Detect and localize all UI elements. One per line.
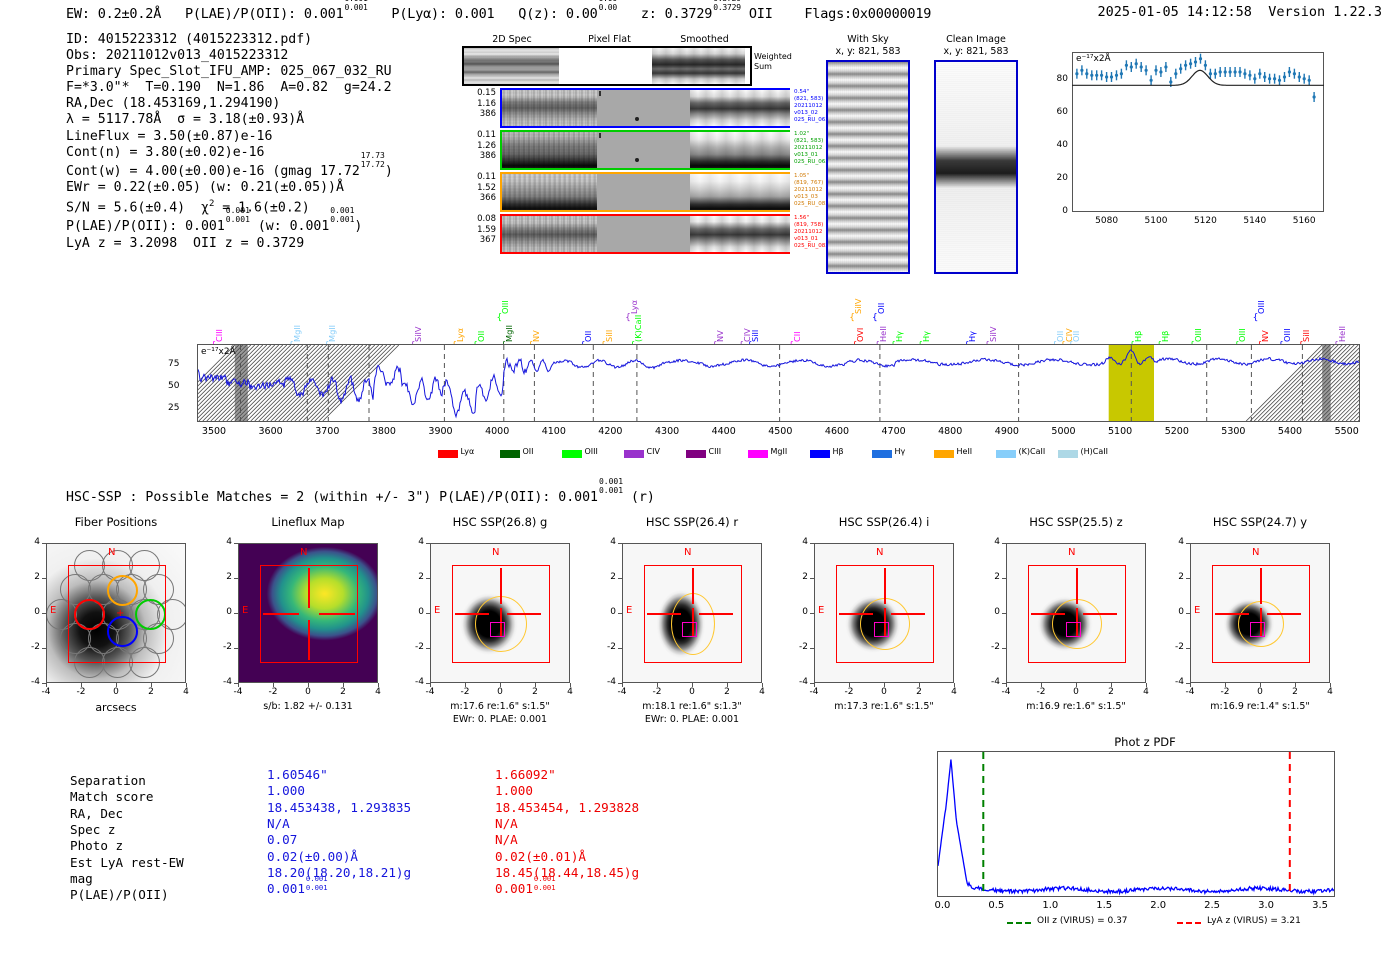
info-chi-symbol: χ bbox=[201, 200, 209, 215]
line-id-(K)CaII-12: (K)CaII bbox=[633, 315, 643, 342]
hsc-panel-image-4[interactable] bbox=[814, 543, 954, 683]
match-label-1: Match score bbox=[70, 789, 153, 805]
hsc-heading-pre: HSC-SSP : Possible Matches = 2 (within +… bbox=[66, 490, 598, 505]
header-qz-lo: 0.00 bbox=[599, 4, 617, 12]
phot-z-pdf-title: Phot z PDF bbox=[935, 735, 1355, 749]
info-cont-w-lo: 17.72 bbox=[361, 161, 385, 169]
legend-label-(H)CaII: (H)CaII bbox=[1081, 447, 1108, 456]
legend-swatch-CIII bbox=[686, 450, 706, 458]
fiber-row-2-stat-2: 366 bbox=[462, 193, 496, 204]
fiber-row-1-stats: 0.11 1.26 386 bbox=[462, 130, 496, 162]
info-plae-hi: 0.001 bbox=[226, 207, 250, 215]
info-plae: P(LAE)/P(OII): 0.0010.0010.001 (w: 0.001… bbox=[66, 216, 393, 235]
fs-ytick-50: 50 bbox=[168, 381, 179, 391]
header-plae-label: P(LAE)/P(OII): bbox=[185, 6, 296, 22]
pz-legend-line-1 bbox=[1177, 922, 1201, 924]
hsc-panel-row: Fiber Positions-4-2024-4-2024+NEarcsecsL… bbox=[0, 515, 1400, 735]
hsc-2-xtick-2: 0 bbox=[488, 687, 512, 697]
cutout-with-sky-title: With Sky bbox=[822, 34, 914, 46]
match-col1-6: 18.20(18.20,18.21)g bbox=[267, 865, 411, 881]
phot-z-pdf-frame bbox=[937, 751, 1335, 897]
fiber-row-1 bbox=[500, 130, 790, 170]
hsc-2-ytick-2: 0 bbox=[404, 607, 424, 617]
hsc-6-compass-n: N bbox=[1252, 547, 1259, 558]
pz-legend-label-1: LyA z (VIRUS) = 3.21 bbox=[1207, 916, 1301, 926]
fiber-row-3-stat-0: 0.08 bbox=[462, 214, 496, 225]
hsc-5-compass-n: N bbox=[1068, 547, 1075, 558]
hsc-2-compass-n: N bbox=[492, 547, 499, 558]
hsc-6-ytick-3: 2 bbox=[1164, 572, 1184, 582]
hsc-6-xtickmark-4 bbox=[1330, 683, 1331, 687]
header-z-lo: 0.3729 bbox=[713, 4, 741, 12]
hsc-1-xtickmark-3 bbox=[343, 683, 344, 687]
hsc-5-xtickmark-2 bbox=[1076, 683, 1077, 687]
hsc-3-xtickmark-3 bbox=[727, 683, 728, 687]
line-id-MgII-2: MgII bbox=[327, 325, 337, 342]
hsc-6-xtickmark-0 bbox=[1190, 683, 1191, 687]
hsc-6-ytick-2: 0 bbox=[1164, 607, 1184, 617]
hsc-3-ytick-1: -2 bbox=[596, 642, 616, 652]
hsc-3-xtick-3: 2 bbox=[715, 687, 739, 697]
legend-swatch-MgII bbox=[748, 450, 768, 458]
fs-ytick-25: 25 bbox=[168, 403, 179, 413]
match-col2-3: N/A bbox=[495, 816, 518, 832]
zoomed-line-plot: e⁻¹⁷x2Å 0 20 40 60 80 508051005120514051… bbox=[1036, 44, 1336, 249]
weighted-sum-flat-blank bbox=[559, 48, 652, 84]
hsc-5-ytick-2: 0 bbox=[980, 607, 1000, 617]
header-qz-value: 0.00 bbox=[566, 6, 598, 22]
hsc-1-ytick-1: -2 bbox=[212, 642, 232, 652]
info-lambda: λ = 5117.78Å σ = 3.18(±0.93)Å bbox=[66, 112, 393, 128]
hsc-6-xtick-2: 0 bbox=[1248, 687, 1272, 697]
match-col2-7: 0.0010.0010.001 bbox=[495, 881, 556, 898]
hsc-1-ytick-4: 4 bbox=[212, 537, 232, 547]
hsc-3-ytick-2: 0 bbox=[596, 607, 616, 617]
hsc-6-xtick-3: 2 bbox=[1283, 687, 1307, 697]
full-spectrum-plot: CIII{MgII{MgII{SiIV{Lyα{OII{OIII{MgII{NV… bbox=[60, 276, 1340, 476]
match-label-2: RA, Dec bbox=[70, 806, 123, 822]
montage-weighted-sum-row bbox=[462, 46, 752, 86]
info-cont-w-hi: 17.73 bbox=[361, 152, 385, 160]
hsc-panel-image-1[interactable] bbox=[238, 543, 378, 683]
hsc-1-xtickmark-2 bbox=[308, 683, 309, 687]
info-plae-w-hi: 0.001 bbox=[330, 207, 354, 215]
hsc-2-xtick-0: -4 bbox=[418, 687, 442, 697]
header-datetime: 2025-01-05 14:12:58 bbox=[1098, 4, 1252, 20]
hsc-6-xtickmark-2 bbox=[1260, 683, 1261, 687]
hsc-heading-lo: 0.001 bbox=[599, 487, 623, 495]
fiber-row-0-stat-0: 0.15 bbox=[462, 88, 496, 99]
fiber-row-3-flat bbox=[597, 216, 690, 252]
match-col1-4: 0.07 bbox=[267, 832, 297, 848]
fiber-row-0 bbox=[500, 88, 790, 128]
hsc-2-xtickmark-0 bbox=[430, 683, 431, 687]
header-ew: EW: 0.2±0.2Å bbox=[66, 6, 161, 22]
weighted-sum-label: Weighted Sum bbox=[754, 52, 792, 72]
header-qz-label: Q(z): bbox=[518, 6, 558, 22]
hsc-2-ytick-1: -2 bbox=[404, 642, 424, 652]
legend-label-OIII: OIII bbox=[585, 447, 598, 456]
hsc-0-ytick-3: 2 bbox=[20, 572, 40, 582]
line-id-OIII-32: OIII bbox=[1256, 300, 1266, 314]
fiber-row-2-stat-0: 0.11 bbox=[462, 172, 496, 183]
info-radec: RA,Dec (18.453169,1.294190) bbox=[66, 96, 393, 112]
hsc-panel-title-3: HSC SSP(26.4) r bbox=[612, 515, 772, 529]
hsc-panel-title-5: HSC SSP(25.5) z bbox=[996, 515, 1156, 529]
fiber-row-2-stat-1: 1.52 bbox=[462, 183, 496, 194]
line-id-MgII-7: MgII bbox=[504, 325, 514, 342]
hsc-5-xtickmark-4 bbox=[1146, 683, 1147, 687]
hsc-0-ytick-2: 0 bbox=[20, 607, 40, 617]
hsc-0-ytick-4: 4 bbox=[20, 537, 40, 547]
cutout-clean-image-data bbox=[934, 60, 1018, 274]
full-spectrum-frame bbox=[197, 344, 1360, 422]
hsc-panel-caption-3: m:18.1 re:1.6" s:1.3" bbox=[602, 701, 782, 712]
match-col2-0: 1.66092" bbox=[495, 767, 556, 783]
hsc-0-compass-n: N bbox=[108, 547, 115, 558]
fiber-row-3-meta: 1.56" (819, 758) 20211012 v013_01 025_RU… bbox=[794, 215, 829, 250]
line-id-HeII-36: HeII bbox=[1337, 326, 1347, 342]
legend-swatch-OIII bbox=[562, 450, 582, 458]
hsc-0-xtick-1: -2 bbox=[69, 687, 93, 697]
hsc-0-xtickmark-1 bbox=[81, 683, 82, 687]
fiber-row-3-smoothed bbox=[690, 216, 790, 252]
hsc-1-ytick-3: 2 bbox=[212, 572, 232, 582]
hsc-2-ytick-4: 4 bbox=[404, 537, 424, 547]
line-id-bracket-32: { bbox=[1253, 313, 1259, 323]
hsc-0-xtick-4: 4 bbox=[174, 687, 198, 697]
legend-label-OII: OII bbox=[523, 447, 534, 456]
hsc-5-ytick-1: -2 bbox=[980, 642, 1000, 652]
info-cont-w-post: ) bbox=[385, 164, 393, 179]
hsc-panel-image-3[interactable] bbox=[622, 543, 762, 683]
match-col1-3: N/A bbox=[267, 816, 290, 832]
hsc-5-ytick-0: -4 bbox=[980, 677, 1000, 687]
hsc-5-ytick-4: 4 bbox=[980, 537, 1000, 547]
hsc-panel-caption-4: m:17.3 re:1.6" s:1.5" bbox=[794, 701, 974, 712]
hsc-3-xtickmark-1 bbox=[657, 683, 658, 687]
fiber-row-0-stats: 0.15 1.16 386 bbox=[462, 88, 496, 120]
hsc-3-xtickmark-4 bbox=[762, 683, 763, 687]
hsc-panel-xlabel-0: arcsecs bbox=[36, 701, 196, 714]
hsc-5-xtick-1: -2 bbox=[1029, 687, 1053, 697]
legend-swatch-(H)CaII bbox=[1058, 450, 1078, 458]
line-id-HeII-20: HeII bbox=[878, 326, 888, 342]
hsc-3-xtickmark-2 bbox=[692, 683, 693, 687]
fiber-row-1-stat-1: 1.26 bbox=[462, 141, 496, 152]
hsc-2-xtickmark-2 bbox=[500, 683, 501, 687]
legend-label-CIV: CIV bbox=[647, 447, 660, 456]
match-col2-4: N/A bbox=[495, 832, 518, 848]
hsc-4-xtickmark-3 bbox=[919, 683, 920, 687]
line-id-OIII-6: OIII bbox=[500, 300, 510, 314]
line-id-OIII-30: OIII bbox=[1193, 328, 1203, 342]
legend-label-(K)CaII: (K)CaII bbox=[1019, 447, 1046, 456]
hsc-6-xtickmark-1 bbox=[1225, 683, 1226, 687]
hsc-panel-title-1: Lineflux Map bbox=[228, 515, 388, 529]
info-plae-w-lo: 0.001 bbox=[330, 216, 354, 224]
cutout-clean-coords: x, y: 821, 583 bbox=[930, 46, 1022, 58]
legend-label-Hβ: Hβ bbox=[833, 447, 844, 456]
hsc-panel-title-0: Fiber Positions bbox=[36, 515, 196, 529]
info-plae-end: ) bbox=[354, 219, 362, 234]
hsc-4-ytick-0: -4 bbox=[788, 677, 808, 687]
emission-line-id-labels: CIII{MgII{MgII{SiIV{Lyα{OII{OIII{MgII{NV… bbox=[60, 276, 1340, 344]
hsc-4-xtick-3: 2 bbox=[907, 687, 931, 697]
fiber-row-1-meta: 1.02" (821, 583) 20211012 v013_01 025_RU… bbox=[794, 131, 829, 166]
info-id: ID: 4015223312 (4015223312.pdf) bbox=[66, 32, 393, 48]
hsc-heading: HSC-SSP : Possible Matches = 2 (within +… bbox=[66, 487, 655, 505]
fiber-row-1-2dspec bbox=[502, 132, 597, 168]
hsc-1-ytick-2: 0 bbox=[212, 607, 232, 617]
header-z-label: z: bbox=[641, 6, 657, 22]
weighted-sum-2dspec-image bbox=[464, 48, 559, 84]
hsc-4-ytick-2: 0 bbox=[788, 607, 808, 617]
hsc-panel-caption2-3: EWr: 0. PLAE: 0.001 bbox=[602, 714, 782, 725]
header-plya: P(Lyα): 0.001 bbox=[391, 6, 494, 22]
hsc-4-xtickmark-4 bbox=[954, 683, 955, 687]
hsc-1-xtickmark-4 bbox=[378, 683, 379, 687]
hsc-4-xtick-1: -2 bbox=[837, 687, 861, 697]
hsc-2-xtickmark-3 bbox=[535, 683, 536, 687]
hsc-5-ytick-3: 2 bbox=[980, 572, 1000, 582]
montage-col-pixelflat: Pixel Flat bbox=[562, 34, 657, 45]
zoom-xtick-labels: 50805100512051405160 bbox=[1072, 216, 1324, 230]
info-cont-n: Cont(n) = 3.80(±0.02)e-16 bbox=[66, 145, 393, 161]
full-spectrum-units: e⁻¹⁷x2Å bbox=[201, 347, 236, 357]
fs-xtick-labels: 3500360037003800390040004100420043004400… bbox=[197, 426, 1360, 440]
header-z-line: OII bbox=[749, 6, 773, 22]
line-id-Lyα-4: Lyα bbox=[455, 328, 465, 342]
hsc-0-xtick-0: -4 bbox=[34, 687, 58, 697]
line-id-OVI-18: OVI bbox=[855, 328, 865, 342]
fiber-row-2-smoothed bbox=[690, 174, 790, 210]
fiber-row-3-stat-2: 367 bbox=[462, 235, 496, 246]
hsc-panel-caption-6: m:16.9 re:1.4" s:1.5" bbox=[1170, 701, 1350, 712]
hsc-3-compass-n: N bbox=[684, 547, 691, 558]
full-spectrum-legend: LyαOIIOIIICIVCIIIMgIIHβHγHeII(K)CaII(H)C… bbox=[197, 448, 1360, 462]
fiber-row-2-stats: 0.11 1.52 366 bbox=[462, 172, 496, 204]
hsc-4-compass-n: N bbox=[876, 547, 883, 558]
fiber-row-1-stat-2: 386 bbox=[462, 151, 496, 162]
hsc-4-xtick-0: -4 bbox=[802, 687, 826, 697]
line-id-Lyα-11: Lyα bbox=[629, 300, 639, 314]
hsc-6-xtick-1: -2 bbox=[1213, 687, 1237, 697]
hsc-panel-image-6[interactable] bbox=[1190, 543, 1330, 683]
fiber-row-0-stat-2: 386 bbox=[462, 109, 496, 120]
hsc-3-xtick-2: 0 bbox=[680, 687, 704, 697]
hsc-0-xtick-3: 2 bbox=[139, 687, 163, 697]
match-label-0: Separation bbox=[70, 773, 146, 789]
hsc-0-xtickmark-3 bbox=[151, 683, 152, 687]
hsc-panel-caption-5: m:16.9 re:1.6" s:1.5" bbox=[986, 701, 1166, 712]
zoom-ytick-80: 80 bbox=[1036, 74, 1068, 84]
hsc-1-xtick-1: -2 bbox=[261, 687, 285, 697]
hsc-2-xtick-4: 4 bbox=[558, 687, 582, 697]
cutout-with-sky-image bbox=[826, 60, 910, 274]
hsc-panel-image-5[interactable] bbox=[1006, 543, 1146, 683]
legend-swatch-HeII bbox=[934, 450, 954, 458]
hsc-2-ytick-3: 2 bbox=[404, 572, 424, 582]
fiber-row-3-stat-1: 1.59 bbox=[462, 225, 496, 236]
hsc-6-ytick-0: -4 bbox=[1164, 677, 1184, 687]
match-label-7: P(LAE)/P(OII) bbox=[70, 887, 169, 903]
hsc-1-xtick-4: 4 bbox=[366, 687, 390, 697]
hsc-4-xtick-4: 4 bbox=[942, 687, 966, 697]
hsc-1-compass-n: N bbox=[300, 547, 307, 558]
line-id-MgII-1: MgII bbox=[292, 325, 302, 342]
hsc-panel-title-2: HSC SSP(26.8) g bbox=[420, 515, 580, 529]
fiber-row-2-flat bbox=[597, 174, 690, 210]
hsc-6-compass-e: E bbox=[1194, 605, 1200, 616]
match-col2-2: 18.453454, 1.293828 bbox=[495, 800, 639, 816]
fiber-row-0-meta: 0.54" (821, 583) 20211012 v013_02 025_RU… bbox=[794, 89, 829, 124]
hsc-3-compass-e: E bbox=[626, 605, 632, 616]
fiber-row-2-2dspec bbox=[502, 174, 597, 210]
hsc-6-ytick-1: -2 bbox=[1164, 642, 1184, 652]
hsc-5-xtickmark-3 bbox=[1111, 683, 1112, 687]
info-cont-w: Cont(w) = 4.00(±0.00)e-16 (gmag 17.7217.… bbox=[66, 161, 393, 180]
fiber-row-3-2dspec bbox=[502, 216, 597, 252]
hsc-6-xtick-0: -4 bbox=[1178, 687, 1202, 697]
legend-swatch-Hγ bbox=[872, 450, 892, 458]
hsc-2-xtickmark-1 bbox=[465, 683, 466, 687]
header-plae-value: 0.001 bbox=[304, 6, 344, 22]
hsc-panel-title-4: HSC SSP(26.4) i bbox=[804, 515, 964, 529]
info-obs: Obs: 20211012v013_4015223312 bbox=[66, 48, 393, 64]
hsc-4-xtick-2: 0 bbox=[872, 687, 896, 697]
match-col2-1: 1.000 bbox=[495, 783, 533, 799]
match-label-4: Photo z bbox=[70, 838, 123, 854]
zoom-ytick-20: 20 bbox=[1036, 173, 1068, 183]
info-plae-pre: P(LAE)/P(OII): 0.001 bbox=[66, 219, 225, 234]
hsc-2-xtick-1: -2 bbox=[453, 687, 477, 697]
weighted-sum-spacer bbox=[745, 48, 750, 84]
hsc-panel-image-0[interactable]: + bbox=[46, 543, 186, 683]
fiber-row-2 bbox=[500, 172, 790, 212]
hsc-5-xtickmark-1 bbox=[1041, 683, 1042, 687]
phot-z-pdf-svg bbox=[938, 752, 1334, 896]
hsc-panel-image-2[interactable] bbox=[430, 543, 570, 683]
hsc-0-ytick-1: -2 bbox=[20, 642, 40, 652]
hsc-2-compass-e: E bbox=[434, 605, 440, 616]
montage-col-2dspec: 2D Spec bbox=[462, 34, 562, 45]
header-flags: Flags:0x00000019 bbox=[804, 6, 931, 22]
hsc-1-xtickmark-0 bbox=[238, 683, 239, 687]
match-col1-0: 1.60546" bbox=[267, 767, 328, 783]
hsc-0-xtickmark-4 bbox=[186, 683, 187, 687]
line-id-bracket-6: { bbox=[497, 313, 503, 323]
legend-swatch-CIV bbox=[624, 450, 644, 458]
info-sn-pre: S/N = 5.6(±0.4) bbox=[66, 200, 201, 215]
full-spectrum-svg bbox=[198, 345, 1359, 421]
hsc-5-xtick-2: 0 bbox=[1064, 687, 1088, 697]
hsc-5-xtick-0: -4 bbox=[994, 687, 1018, 697]
legend-label-CIII: CIII bbox=[709, 447, 722, 456]
header-version: Version 1.22.3 bbox=[1268, 4, 1382, 20]
fiber-row-2-meta: 1.05" (819, 767) 20211012 v013_03 025_RU… bbox=[794, 173, 829, 208]
hsc-0-compass-e: E bbox=[50, 605, 56, 616]
cutout-clean-title: Clean Image bbox=[930, 34, 1022, 46]
hsc-1-xtickmark-1 bbox=[273, 683, 274, 687]
zoom-ytick-40: 40 bbox=[1036, 140, 1068, 150]
hsc-panel-title-6: HSC SSP(24.7) y bbox=[1180, 515, 1340, 529]
hsc-4-ytick-1: -2 bbox=[788, 642, 808, 652]
hsc-3-ytick-4: 4 bbox=[596, 537, 616, 547]
zoom-ytick-60: 60 bbox=[1036, 107, 1068, 117]
weighted-sum-smoothed-image bbox=[652, 48, 745, 84]
fiber-row-3 bbox=[500, 214, 790, 254]
legend-swatch-Lyα bbox=[438, 450, 458, 458]
hsc-1-compass-e: E bbox=[242, 605, 248, 616]
legend-swatch-OII bbox=[500, 450, 520, 458]
info-specslot: Primary Spec_Slot_IFU_AMP: 025_067_032_R… bbox=[66, 64, 393, 80]
line-id-OIII-34: OIII bbox=[1282, 328, 1292, 342]
hsc-1-xtick-2: 0 bbox=[296, 687, 320, 697]
hsc-3-xtick-4: 4 bbox=[750, 687, 774, 697]
hsc-6-xtick-4: 4 bbox=[1318, 687, 1342, 697]
hsc-1-ytick-0: -4 bbox=[212, 677, 232, 687]
info-lineflux: LineFlux = 3.50(±0.87)e-16 bbox=[66, 129, 393, 145]
header-z-value: 0.3729 bbox=[665, 6, 713, 22]
phot-z-xtick-labels: 0.00.51.01.52.02.53.03.5 bbox=[937, 900, 1335, 914]
hsc-panel-caption-2: m:17.6 re:1.6" s:1.5" bbox=[410, 701, 590, 712]
line-id-SiIV-24: SiIV bbox=[988, 327, 998, 343]
fiber-row-0-stat-1: 1.16 bbox=[462, 99, 496, 110]
hsc-1-xtick-3: 2 bbox=[331, 687, 355, 697]
hsc-4-xtickmark-2 bbox=[884, 683, 885, 687]
fiber-row-0-2dspec bbox=[502, 90, 597, 126]
detection-info-block: ID: 4015223312 (4015223312.pdf) Obs: 202… bbox=[66, 32, 393, 252]
cutout-clean-image: Clean Image x, y: 821, 583 bbox=[930, 34, 1022, 57]
match-col1-2: 18.453438, 1.293835 bbox=[267, 800, 411, 816]
hsc-panel-caption-1: s/b: 1.82 +/- 0.131 bbox=[218, 701, 398, 712]
fiber-row-1-stat-0: 0.11 bbox=[462, 130, 496, 141]
hsc-3-xtickmark-0 bbox=[622, 683, 623, 687]
header-summary: EW: 0.2±0.2Å P(LAE)/P(OII): 0.0010.0010.… bbox=[66, 4, 931, 22]
pz-legend-line-0 bbox=[1007, 922, 1031, 924]
hsc-1-xtick-0: -4 bbox=[226, 687, 250, 697]
legend-label-MgII: MgII bbox=[771, 447, 788, 456]
match-label-5: Est LyA rest-EW bbox=[70, 855, 184, 871]
hsc-heading-hi: 0.001 bbox=[599, 478, 623, 486]
info-plae-lo: 0.001 bbox=[226, 216, 250, 224]
cutout-with-sky-coords: x, y: 821, 583 bbox=[822, 46, 914, 58]
hsc-5-xtick-3: 2 bbox=[1099, 687, 1123, 697]
match-col1-7: 0.0010.0010.001 bbox=[267, 881, 328, 898]
info-fwhm: F=*3.0"* T=0.190 N=1.86 A=0.82 g=24.2 bbox=[66, 80, 393, 96]
hsc-5-xtick-4: 4 bbox=[1134, 687, 1158, 697]
match-col1-1: 1.000 bbox=[267, 783, 305, 799]
hsc-2-xtick-3: 2 bbox=[523, 687, 547, 697]
hsc-4-xtickmark-0 bbox=[814, 683, 815, 687]
hsc-0-ytick-0: -4 bbox=[20, 677, 40, 687]
hsc-6-xtickmark-3 bbox=[1295, 683, 1296, 687]
hsc-4-xtickmark-1 bbox=[849, 683, 850, 687]
hsc-4-compass-e: E bbox=[818, 605, 824, 616]
hsc-6-ytick-4: 4 bbox=[1164, 537, 1184, 547]
line-id-bracket-19: { bbox=[872, 313, 878, 323]
cutout-with-sky: With Sky x, y: 821, 583 bbox=[822, 34, 914, 57]
zoom-ytick-0: 0 bbox=[1036, 206, 1068, 216]
hsc-3-xtick-0: -4 bbox=[610, 687, 634, 697]
zoomed-line-plot-svg bbox=[1072, 52, 1324, 212]
match-col2-5: 0.02(±0.01)Å bbox=[495, 849, 586, 865]
hsc-2-xtickmark-4 bbox=[570, 683, 571, 687]
hsc-3-ytick-0: -4 bbox=[596, 677, 616, 687]
phot-z-pdf-plot: Phot z PDF 0.00.51.01.52.02.53.03.5 OII … bbox=[935, 735, 1355, 935]
legend-label-Hγ: Hγ bbox=[895, 447, 906, 456]
